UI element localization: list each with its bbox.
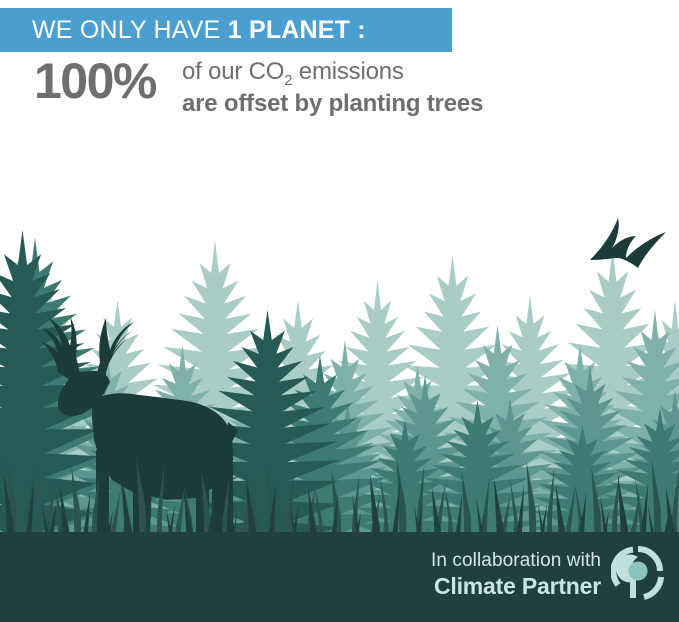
claim-text: of our CO2 emissions are offset by plant… bbox=[182, 58, 483, 118]
header-banner-text-plain: WE ONLY HAVE bbox=[32, 16, 228, 44]
header-banner-text: WE ONLY HAVE 1 PLANET : bbox=[32, 18, 366, 43]
brand-wordmark: In collaboration with Climate Partner bbox=[431, 550, 601, 600]
brand-name: Climate Partner bbox=[431, 573, 601, 600]
percent-figure: 100% bbox=[34, 56, 156, 106]
claim-line-1-prefix: of our CO bbox=[182, 58, 284, 85]
header-banner: WE ONLY HAVE 1 PLANET : bbox=[0, 8, 452, 52]
headline-block: 100% of our CO2 emissions are offset by … bbox=[34, 56, 634, 118]
header-banner-text-bold: 1 PLANET : bbox=[228, 16, 366, 44]
infographic-canvas: WE ONLY HAVE 1 PLANET : 100% of our CO2 … bbox=[0, 0, 679, 622]
claim-line-1: of our CO2 emissions bbox=[182, 58, 483, 90]
claim-line-2: are offset by planting trees bbox=[182, 90, 483, 118]
claim-line-1-suffix: emissions bbox=[292, 58, 403, 85]
climate-partner-logo-icon bbox=[611, 546, 665, 604]
brand-prefix: In collaboration with bbox=[431, 550, 601, 572]
brand-footer: In collaboration with Climate Partner bbox=[431, 546, 665, 604]
